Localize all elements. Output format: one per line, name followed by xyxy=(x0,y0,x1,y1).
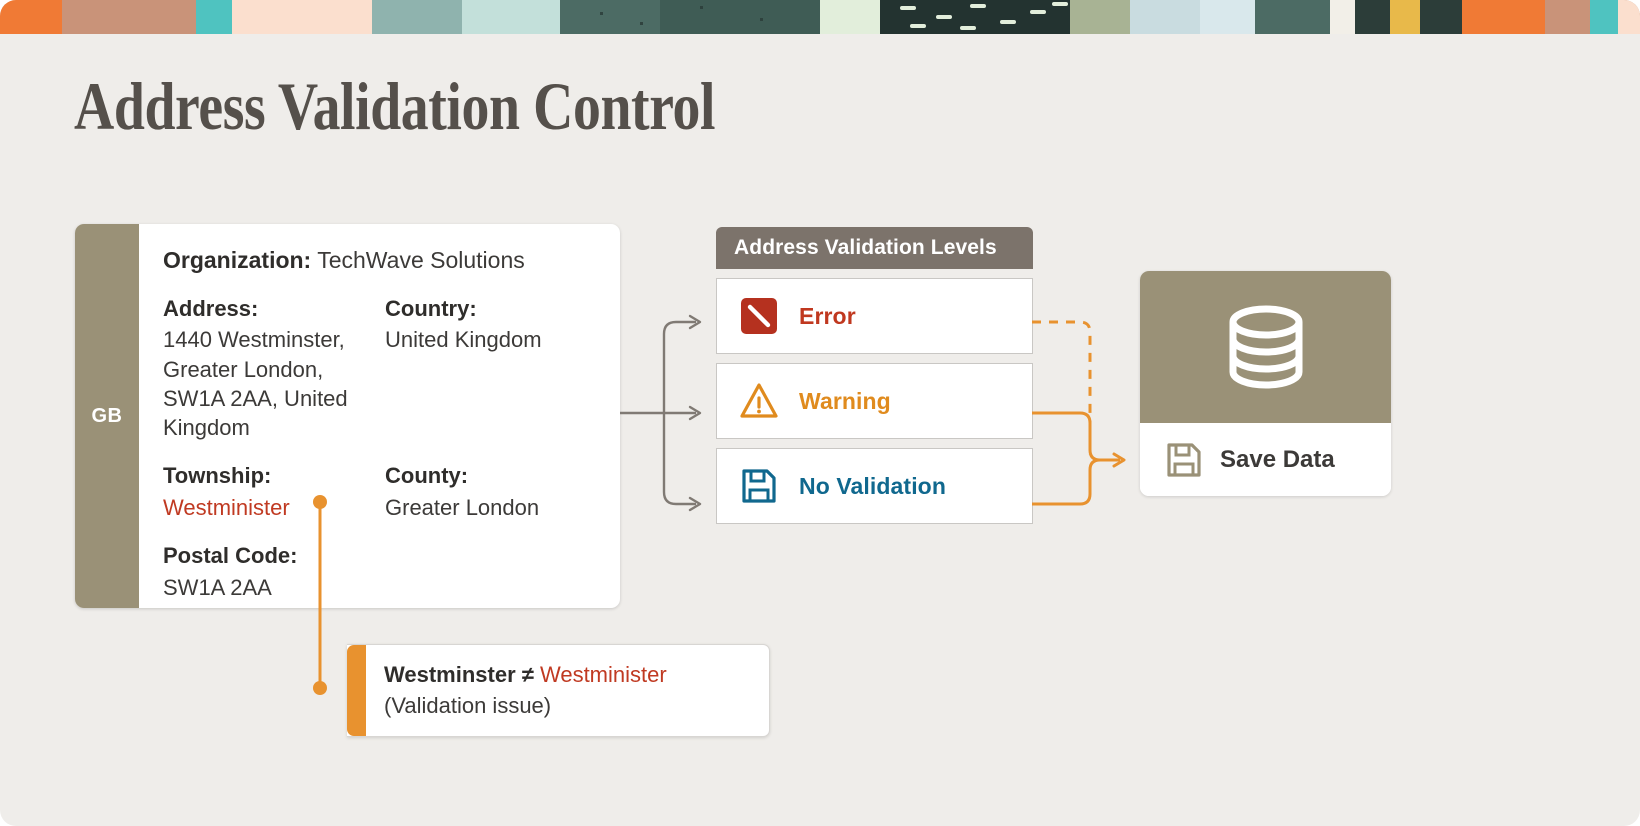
no-validation-path xyxy=(1032,460,1120,504)
floppy-save-icon xyxy=(1164,440,1204,480)
field-county: County: Greater London xyxy=(385,462,596,522)
address-card-body: Organization: TechWave Solutions Address… xyxy=(139,224,620,608)
callout-expected: Westminster xyxy=(384,662,516,687)
address-card: GB Organization: TechWave Solutions Addr… xyxy=(75,224,620,608)
field-country: Country: United Kingdom xyxy=(385,295,596,443)
callout-comparison: Westminster ≠ Westminister xyxy=(384,659,667,690)
address-field-grid: Address: 1440 Westminster, Greater Londo… xyxy=(163,295,596,602)
error-path-dashed xyxy=(1032,322,1090,455)
field-address: Address: 1440 Westminster, Greater Londo… xyxy=(163,295,385,443)
save-data-label: Save Data xyxy=(1220,446,1335,474)
floppy-save-icon xyxy=(739,466,779,506)
level-row-no-validation[interactable]: No Validation xyxy=(716,448,1033,524)
warning-path xyxy=(1032,413,1120,460)
field-county-label: County: xyxy=(385,462,596,491)
database-icon xyxy=(1218,299,1314,395)
level-row-error[interactable]: Error xyxy=(716,278,1033,354)
callout-accent-bar xyxy=(347,645,366,736)
validation-issue-callout: Westminster ≠ Westminister (Validation i… xyxy=(347,644,770,737)
country-code-strip: GB xyxy=(75,224,139,608)
save-card-icon-area xyxy=(1140,271,1391,423)
callout-leader-line xyxy=(305,490,335,700)
callout-note: (Validation issue) xyxy=(384,690,667,721)
branch-connector xyxy=(620,300,716,526)
error-slash-icon xyxy=(739,296,779,336)
level-row-warning[interactable]: Warning xyxy=(716,363,1033,439)
field-county-value: Greater London xyxy=(385,493,596,522)
field-township-label: Township: xyxy=(163,462,385,491)
organization-line: Organization: TechWave Solutions xyxy=(163,246,596,275)
field-postal-code-label: Postal Code: xyxy=(163,542,385,571)
field-country-value: United Kingdom xyxy=(385,325,596,354)
save-card-label-area: Save Data xyxy=(1140,423,1391,496)
level-label-error: Error xyxy=(799,303,856,330)
callout-actual: Westminister xyxy=(540,662,667,687)
save-data-card[interactable]: Save Data xyxy=(1140,271,1391,496)
decorative-pattern-banner xyxy=(0,0,1640,34)
level-label-no-validation: No Validation xyxy=(799,473,946,500)
field-township: Township: Westminister xyxy=(163,462,385,522)
field-township-value: Westminister xyxy=(163,493,385,522)
field-address-value: 1440 Westminster, Greater London, SW1A 2… xyxy=(163,325,385,442)
result-connector xyxy=(1032,305,1148,520)
field-postal-code-value: SW1A 2AA xyxy=(163,573,385,602)
leader-dot-top xyxy=(313,495,327,509)
page-title: Address Validation Control xyxy=(74,72,715,140)
warning-triangle-icon xyxy=(739,381,779,421)
field-country-label: Country: xyxy=(385,295,596,324)
validation-levels-panel: Address Validation Levels Error Warning xyxy=(716,227,1033,524)
validation-levels-header: Address Validation Levels xyxy=(716,227,1033,269)
callout-operator: ≠ xyxy=(522,662,534,687)
leader-dot-bottom xyxy=(313,681,327,695)
organization-label: Organization: xyxy=(163,247,311,273)
field-address-label: Address: xyxy=(163,295,385,324)
field-postal-code: Postal Code: SW1A 2AA xyxy=(163,542,385,602)
callout-body: Westminster ≠ Westminister (Validation i… xyxy=(366,645,667,736)
organization-value: TechWave Solutions xyxy=(317,247,525,273)
level-label-warning: Warning xyxy=(799,388,891,415)
slide-canvas: Address Validation Control GB Organizati… xyxy=(0,0,1640,826)
